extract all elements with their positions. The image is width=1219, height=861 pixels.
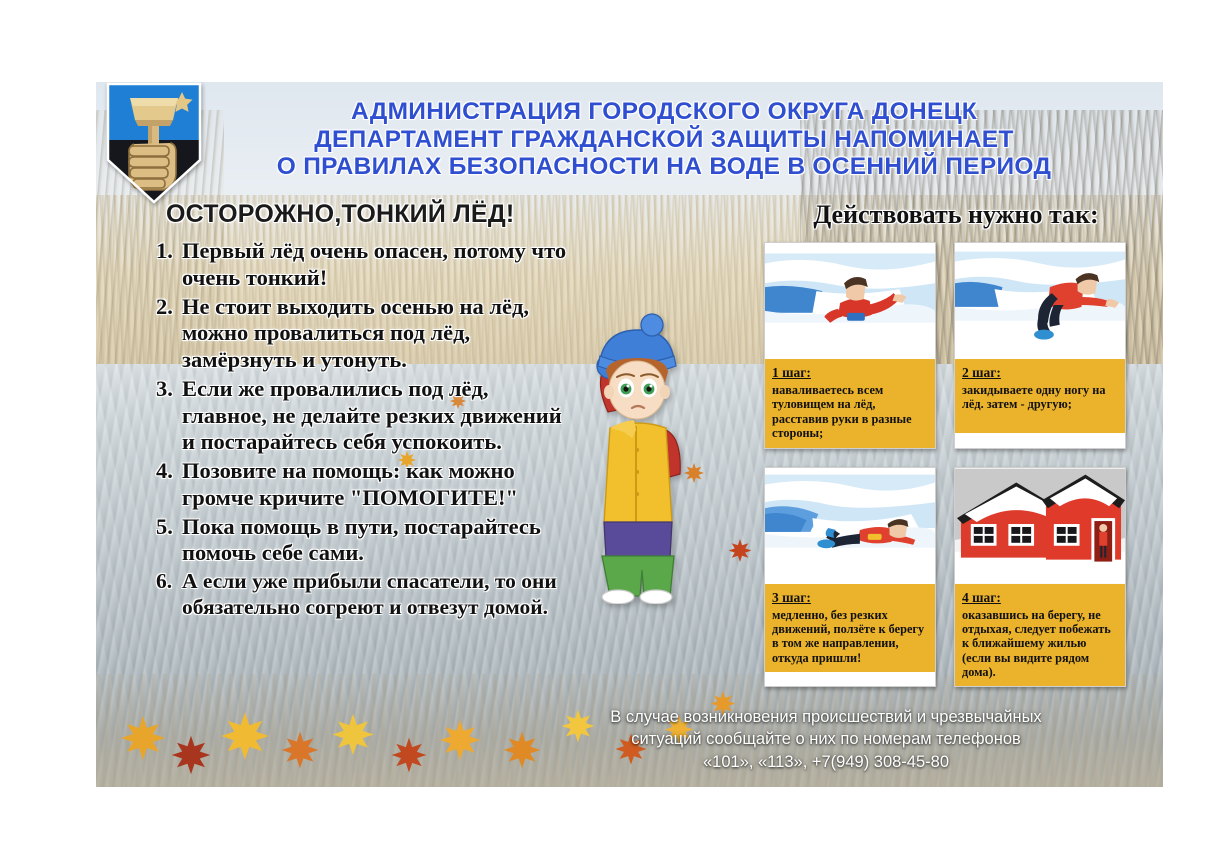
- rule-text: Первый лёд очень опасен, потому что очен…: [182, 238, 566, 290]
- donetsk-coat-of-arms-icon: [104, 82, 204, 204]
- warning-heading: ОСТОРОЖНО,ТОНКИЙ ЛЁД!: [166, 200, 576, 229]
- title-line-1: АДМИНИСТРАЦИЯ ГОРОДСКОГО ОКРУГА ДОНЕЦК: [214, 98, 1114, 126]
- boy-illustration: [548, 304, 728, 604]
- rule-number: 1.: [156, 238, 173, 265]
- step-text: медленно, без резких движений, ползёте к…: [772, 608, 928, 666]
- rules-list: 1. Первый лёд очень опасен, потому что о…: [156, 238, 576, 620]
- rule-text: А если уже прибыли спасатели, то они обя…: [182, 569, 557, 619]
- step-label: 4 шаг:: [962, 590, 1001, 606]
- title-line-3: О ПРАВИЛАХ БЕЗОПАСНОСТИ НА ВОДЕ В ОСЕННИ…: [214, 153, 1114, 181]
- rule-item: 4. Позовите на помощь: как можно громче …: [156, 458, 576, 512]
- step-card-2: 2 шаг: закидываете одну ногу на лёд. зат…: [954, 242, 1126, 449]
- page-title: АДМИНИСТРАЦИЯ ГОРОДСКОГО ОКРУГА ДОНЕЦК Д…: [214, 98, 1114, 181]
- red-house-in-snow-icon: [955, 468, 1125, 584]
- person-in-ice-hole-icon: [765, 243, 935, 359]
- step-label: 1 шаг:: [772, 365, 811, 381]
- steps-heading: Действовать нужно так:: [756, 200, 1156, 230]
- rule-text: Пока помощь в пути, постарайтесь помочь …: [182, 514, 541, 566]
- step-card-1: 1 шаг: наваливаетесь всем туловищем на л…: [764, 242, 936, 449]
- title-line-2: ДЕПАРТАМЕНТ ГРАЖДАНСКОЙ ЗАЩИТЫ НАПОМИНАЕ…: [214, 126, 1114, 154]
- footer-line-2: ситуаций сообщайте о них по номерам теле…: [496, 728, 1156, 750]
- step-caption-1: 1 шаг: наваливаетесь всем туловищем на л…: [765, 359, 935, 448]
- step-caption-3: 3 шаг: медленно, без резких движений, по…: [765, 584, 935, 673]
- person-climbing-onto-ice-icon: [955, 243, 1125, 359]
- emergency-contacts: В случае возникновения происшествий и чр…: [496, 706, 1156, 773]
- rule-text: Если же провалились под лёд, главное, не…: [182, 376, 562, 455]
- step-label: 3 шаг:: [772, 590, 811, 606]
- rule-number: 4.: [156, 458, 173, 485]
- rule-number: 2.: [156, 294, 173, 321]
- footer-line-3: «101», «113», +7(949) 308-45-80: [496, 751, 1156, 773]
- step-label: 2 шаг:: [962, 365, 1001, 381]
- rule-item: 1. Первый лёд очень опасен, потому что о…: [156, 238, 576, 292]
- steps-grid: 1 шаг: наваливаетесь всем туловищем на л…: [764, 242, 1156, 687]
- step-text: закидываете одну ногу на лёд. затем - др…: [962, 383, 1118, 412]
- rule-item: 5. Пока помощь в пути, постарайтесь помо…: [156, 514, 576, 568]
- rule-item: 6. А если уже прибыли спасатели, то они …: [156, 569, 576, 620]
- step-card-3: 3 шаг: медленно, без резких движений, по…: [764, 467, 936, 688]
- step-caption-4: 4 шаг: оказавшись на берегу, не отдыхая,…: [955, 584, 1125, 687]
- rule-number: 5.: [156, 514, 173, 541]
- poster-page: АДМИНИСТРАЦИЯ ГОРОДСКОГО ОКРУГА ДОНЕЦК Д…: [0, 0, 1219, 861]
- rules-column: ОСТОРОЖНО,ТОНКИЙ ЛЁД! 1. Первый лёд очен…: [156, 200, 576, 622]
- step-text: наваливаетесь всем туловищем на лёд, рас…: [772, 383, 928, 441]
- safety-poster: АДМИНИСТРАЦИЯ ГОРОДСКОГО ОКРУГА ДОНЕЦК Д…: [96, 82, 1163, 787]
- step-text: оказавшись на берегу, не отдыхая, следуе…: [962, 608, 1118, 680]
- person-crawling-on-ice-icon: [765, 468, 935, 584]
- rule-item: 2. Не стоит выходить осенью на лёд, можн…: [156, 294, 576, 374]
- rule-item: 3. Если же провалились под лёд, главное,…: [156, 376, 576, 456]
- step-card-4: 4 шаг: оказавшись на берегу, не отдыхая,…: [954, 467, 1126, 688]
- rule-text: Не стоит выходить осенью на лёд, можно п…: [182, 294, 529, 373]
- steps-column: Действовать нужно так:: [756, 200, 1156, 687]
- rule-text: Позовите на помощь: как можно громче кри…: [182, 458, 518, 510]
- footer-line-1: В случае возникновения происшествий и чр…: [496, 706, 1156, 728]
- rule-number: 3.: [156, 376, 173, 403]
- step-caption-2: 2 шаг: закидываете одну ногу на лёд. зат…: [955, 359, 1125, 433]
- rule-number: 6.: [156, 569, 172, 595]
